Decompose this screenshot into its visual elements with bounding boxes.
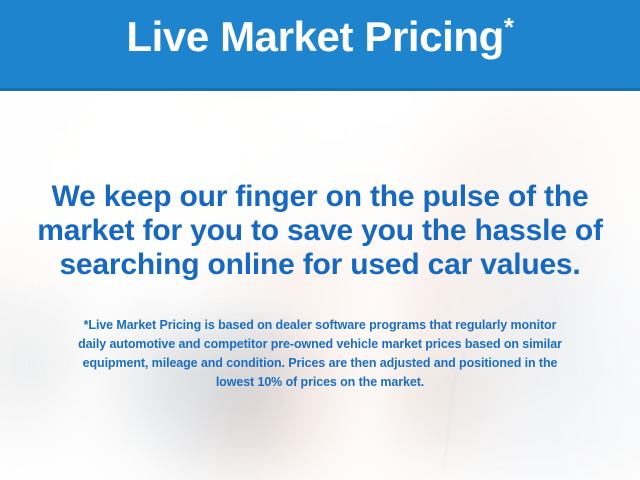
title-banner: Live Market Pricing*: [0, 0, 640, 91]
headline-line-1: We keep our finger on the pulse of the: [0, 180, 640, 214]
banner-footnote-marker: *: [504, 12, 514, 42]
banner-title: Live Market Pricing*: [0, 13, 640, 60]
disclaimer-line-2: daily automotive and competitor pre-owne…: [26, 335, 614, 354]
disclaimer-line-3: equipment, mileage and condition. Prices…: [26, 354, 614, 373]
disclaimer: *Live Market Pricing is based on dealer …: [26, 316, 614, 392]
live-market-pricing-slide: Live Market Pricing* We keep our finger …: [0, 0, 640, 480]
headline-line-3: searching online for used car values.: [0, 248, 640, 282]
headline-line-2: market for you to save you the hassle of: [0, 214, 640, 248]
headline: We keep our finger on the pulse of the m…: [0, 180, 640, 282]
banner-title-text: Live Market Pricing: [126, 13, 504, 60]
disclaimer-line-4: lowest 10% of prices on the market.: [26, 373, 614, 392]
disclaimer-line-1: *Live Market Pricing is based on dealer …: [26, 316, 614, 335]
